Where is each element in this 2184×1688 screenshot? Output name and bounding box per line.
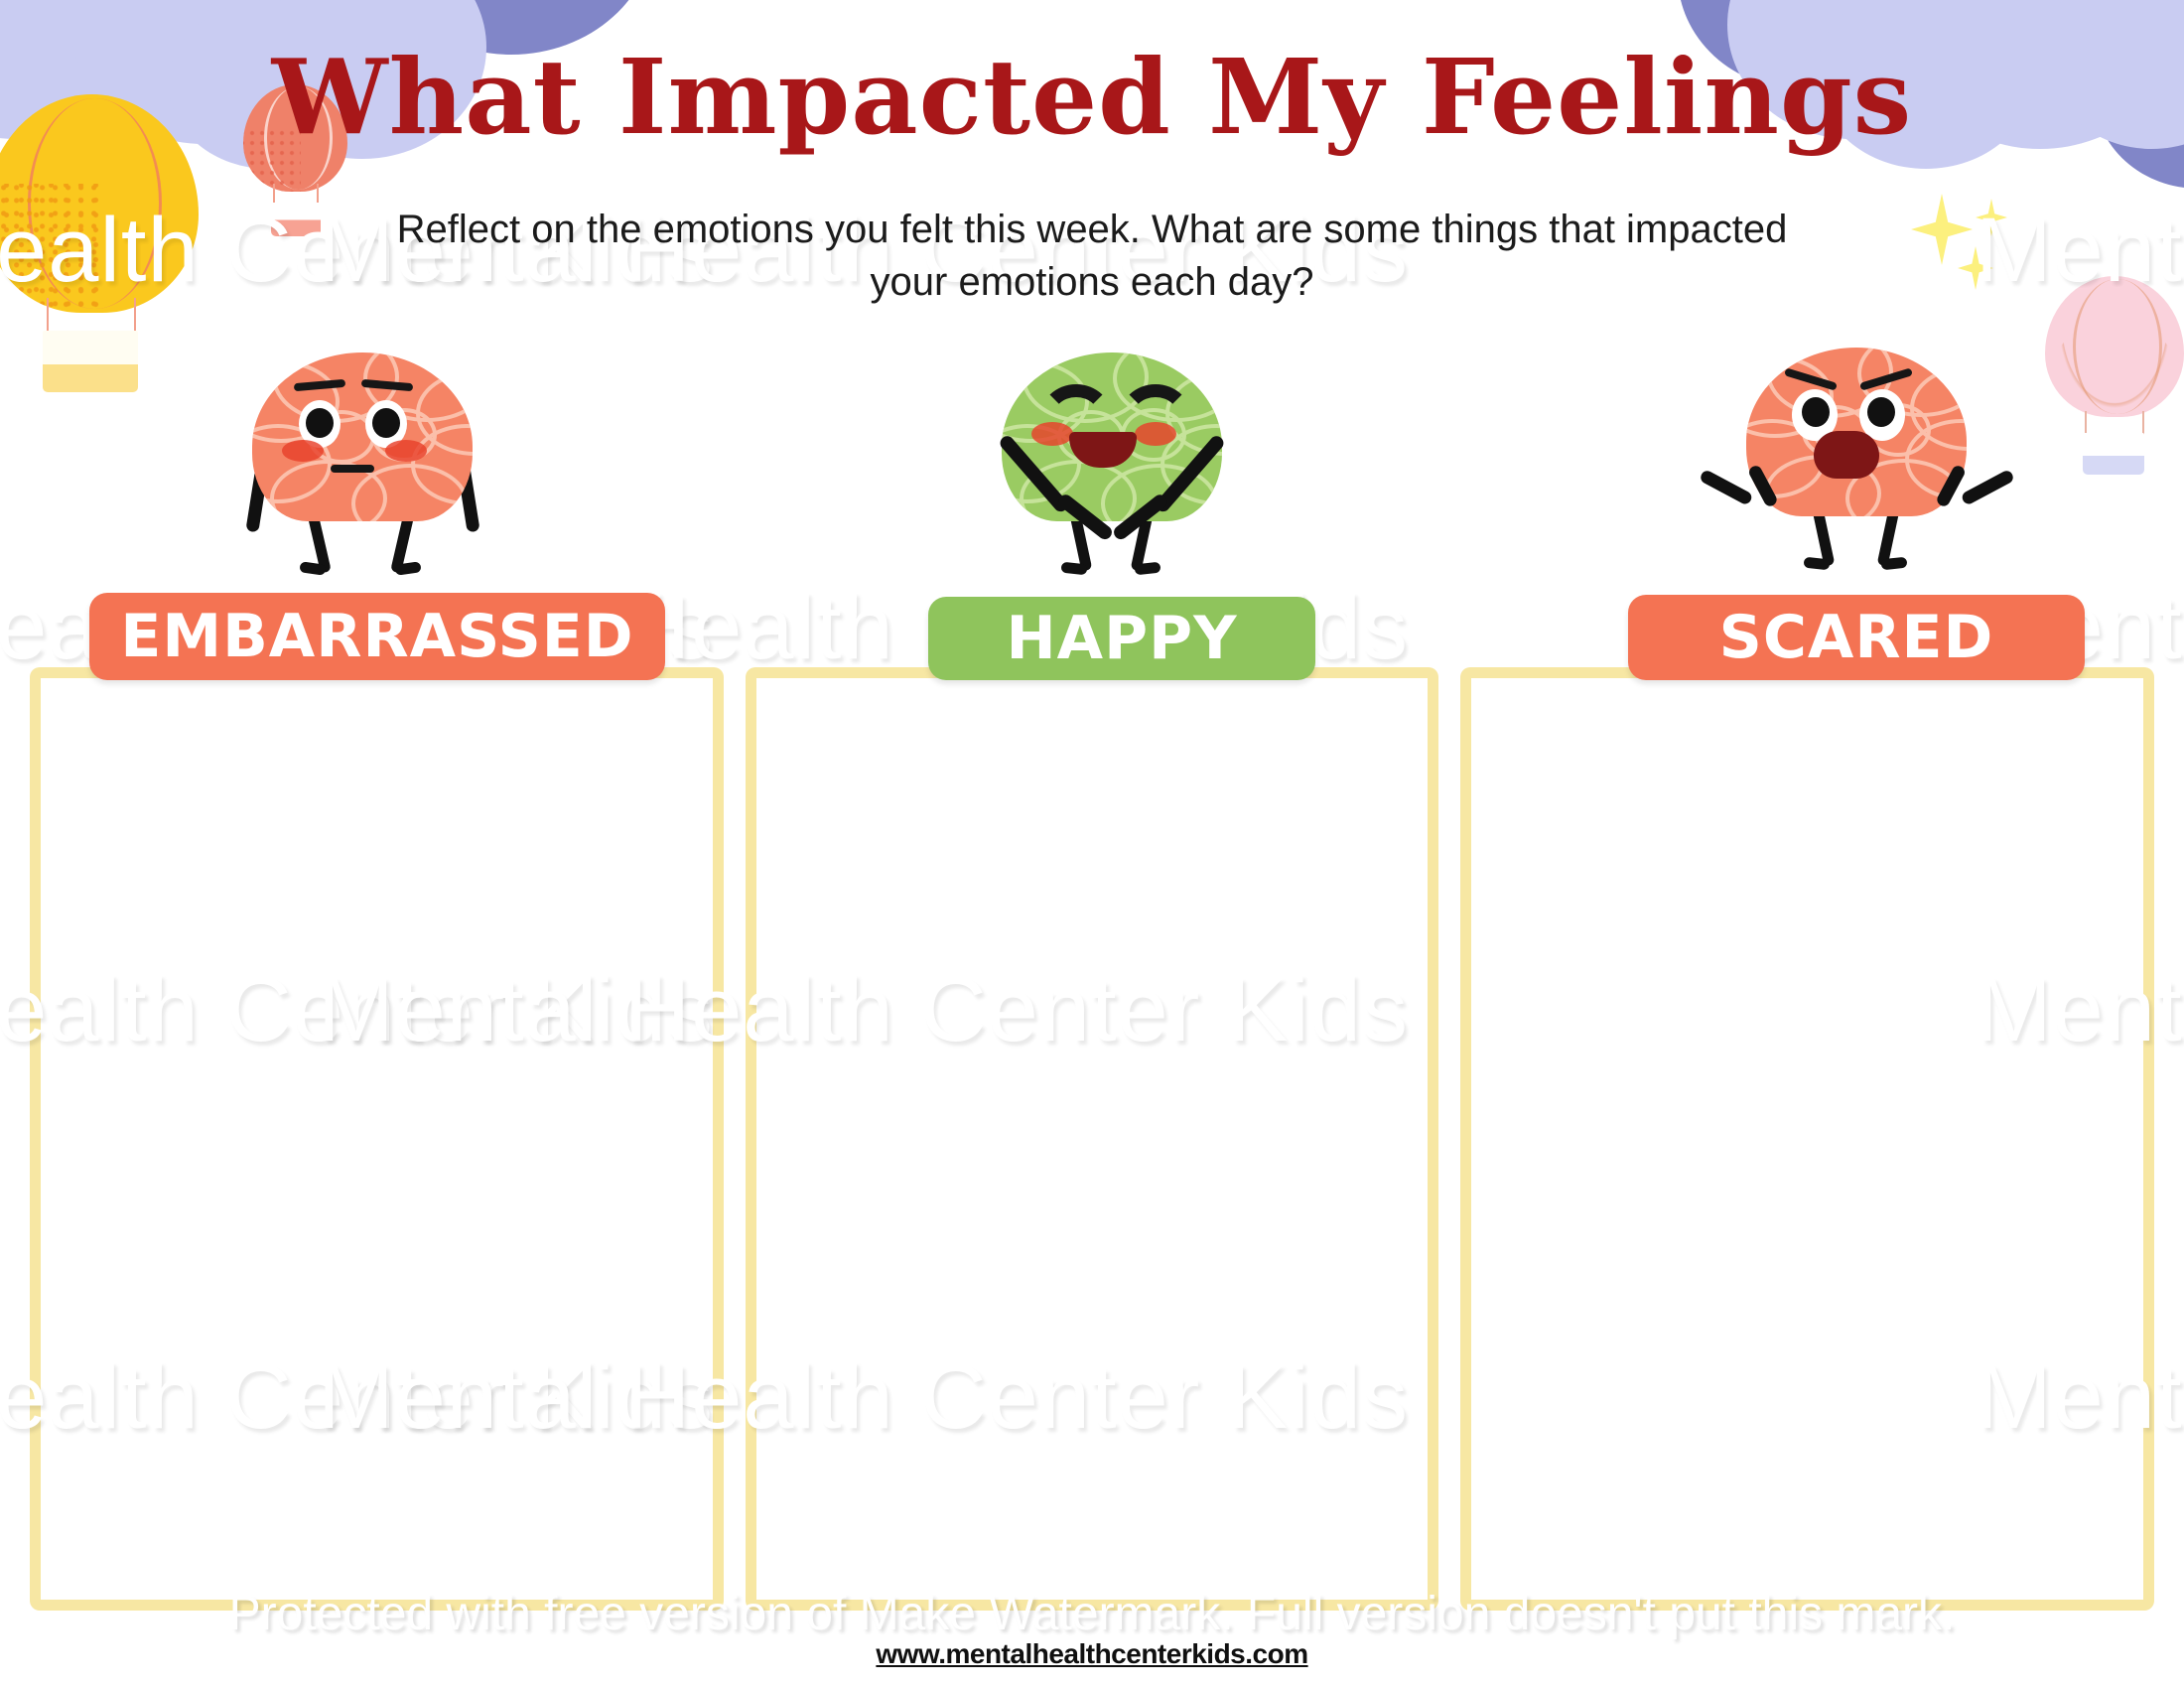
emotion-header-embarrassed: EMBARRASSED xyxy=(89,352,705,680)
footer-url[interactable]: www.mentalhealthcenterkids.com xyxy=(876,1638,1307,1670)
answer-box-embarrassed[interactable] xyxy=(30,667,724,1611)
emotion-label: EMBARRASSED xyxy=(120,602,633,671)
emotion-header-happy: HAPPY xyxy=(913,352,1310,680)
sparkle-icon xyxy=(1958,246,1993,290)
emotion-label: SCARED xyxy=(1719,603,1994,672)
brain-happy-icon xyxy=(988,352,1236,536)
answer-box-scared[interactable] xyxy=(1460,667,2154,1611)
emotion-pill-embarrassed[interactable]: EMBARRASSED xyxy=(89,593,665,680)
watermark-notice: Protected with free version of Make Wate… xyxy=(229,1587,1956,1641)
page-title: What Impacted My Feelings xyxy=(0,42,2184,153)
answer-columns xyxy=(30,667,2154,1611)
emotion-header-scared: SCARED xyxy=(1628,348,2085,680)
brain-embarrassed-icon xyxy=(238,352,486,536)
emotion-pill-scared[interactable]: SCARED xyxy=(1628,595,2085,680)
sparkle-icon xyxy=(1911,194,1973,265)
page-subtitle: Reflect on the emotions you felt this we… xyxy=(387,204,1797,309)
sparkle-icon xyxy=(1976,199,2007,236)
brain-scared-icon xyxy=(1732,348,1980,531)
emotion-label: HAPPY xyxy=(1006,604,1237,673)
answer-box-happy[interactable] xyxy=(746,667,1439,1611)
emotion-pill-happy[interactable]: HAPPY xyxy=(928,597,1315,680)
